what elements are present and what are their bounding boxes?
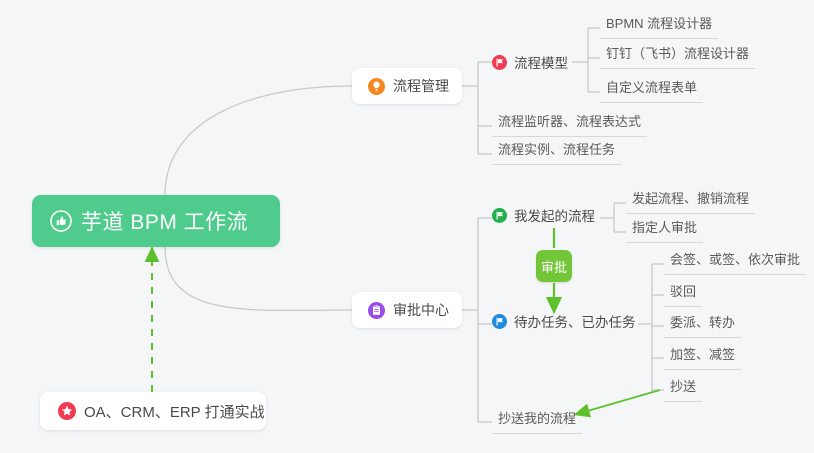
- leaf-process-instance[interactable]: 流程实例、流程任务: [492, 139, 621, 165]
- node-todo-done-tasks-label: 待办任务、已办任务: [514, 311, 636, 331]
- thumbs-up-icon: [50, 210, 72, 232]
- leaf-assigned-approval[interactable]: 指定人审批: [626, 217, 703, 243]
- leaf-dingtalk-designer[interactable]: 钉钉（飞书）流程设计器: [600, 43, 755, 69]
- leaf-countersign[interactable]: 会签、或签、依次审批: [664, 249, 806, 275]
- node-process-model[interactable]: 流程模型: [492, 52, 568, 72]
- root-node[interactable]: 芋道 BPM 工作流: [32, 195, 280, 247]
- link-root-to-process-management: [165, 86, 352, 195]
- flag-icon-blue: [492, 314, 507, 329]
- leaf-bpmn-designer[interactable]: BPMN 流程设计器: [600, 13, 718, 39]
- clipboard-icon: [368, 302, 385, 319]
- star-icon: [58, 402, 76, 420]
- arrow-cc-to-my-cc: [577, 390, 660, 414]
- mindmap-canvas: 芋道 BPM 工作流 流程管理 流程模型 BPMN 流程设计器 钉钉（飞书）流程…: [0, 0, 814, 453]
- approval-badge[interactable]: 审批: [536, 250, 572, 282]
- root-label: 芋道 BPM 工作流: [81, 206, 248, 236]
- node-process-management[interactable]: 流程管理: [352, 68, 462, 104]
- flag-icon-green: [492, 208, 507, 223]
- leaf-cc[interactable]: 抄送: [664, 376, 702, 402]
- leaf-cc-to-me[interactable]: 抄送我的流程: [492, 408, 582, 434]
- link-root-to-approval-center: [165, 247, 352, 310]
- leaf-start-cancel-process[interactable]: 发起流程、撤销流程: [626, 188, 755, 214]
- node-approval-center-label: 审批中心: [393, 300, 449, 320]
- leaf-delegate-transfer[interactable]: 委派、转办: [664, 312, 741, 338]
- node-oa-crm-erp[interactable]: OA、CRM、ERP 打通实战: [40, 392, 266, 430]
- leaf-process-listener[interactable]: 流程监听器、流程表达式: [492, 111, 647, 137]
- node-todo-done-tasks[interactable]: 待办任务、已办任务: [492, 311, 636, 331]
- node-process-model-label: 流程模型: [514, 52, 568, 72]
- node-my-initiated-label: 我发起的流程: [514, 205, 595, 225]
- leaf-add-remove-sign[interactable]: 加签、减签: [664, 344, 741, 370]
- node-my-initiated[interactable]: 我发起的流程: [492, 205, 595, 225]
- leaf-reject[interactable]: 驳回: [664, 281, 702, 307]
- lightbulb-icon: [368, 78, 385, 95]
- node-oa-crm-erp-label: OA、CRM、ERP 打通实战: [84, 401, 265, 422]
- node-approval-center[interactable]: 审批中心: [352, 292, 462, 328]
- node-process-management-label: 流程管理: [393, 76, 449, 96]
- leaf-custom-form[interactable]: 自定义流程表单: [600, 77, 703, 103]
- flag-icon-red: [492, 55, 507, 70]
